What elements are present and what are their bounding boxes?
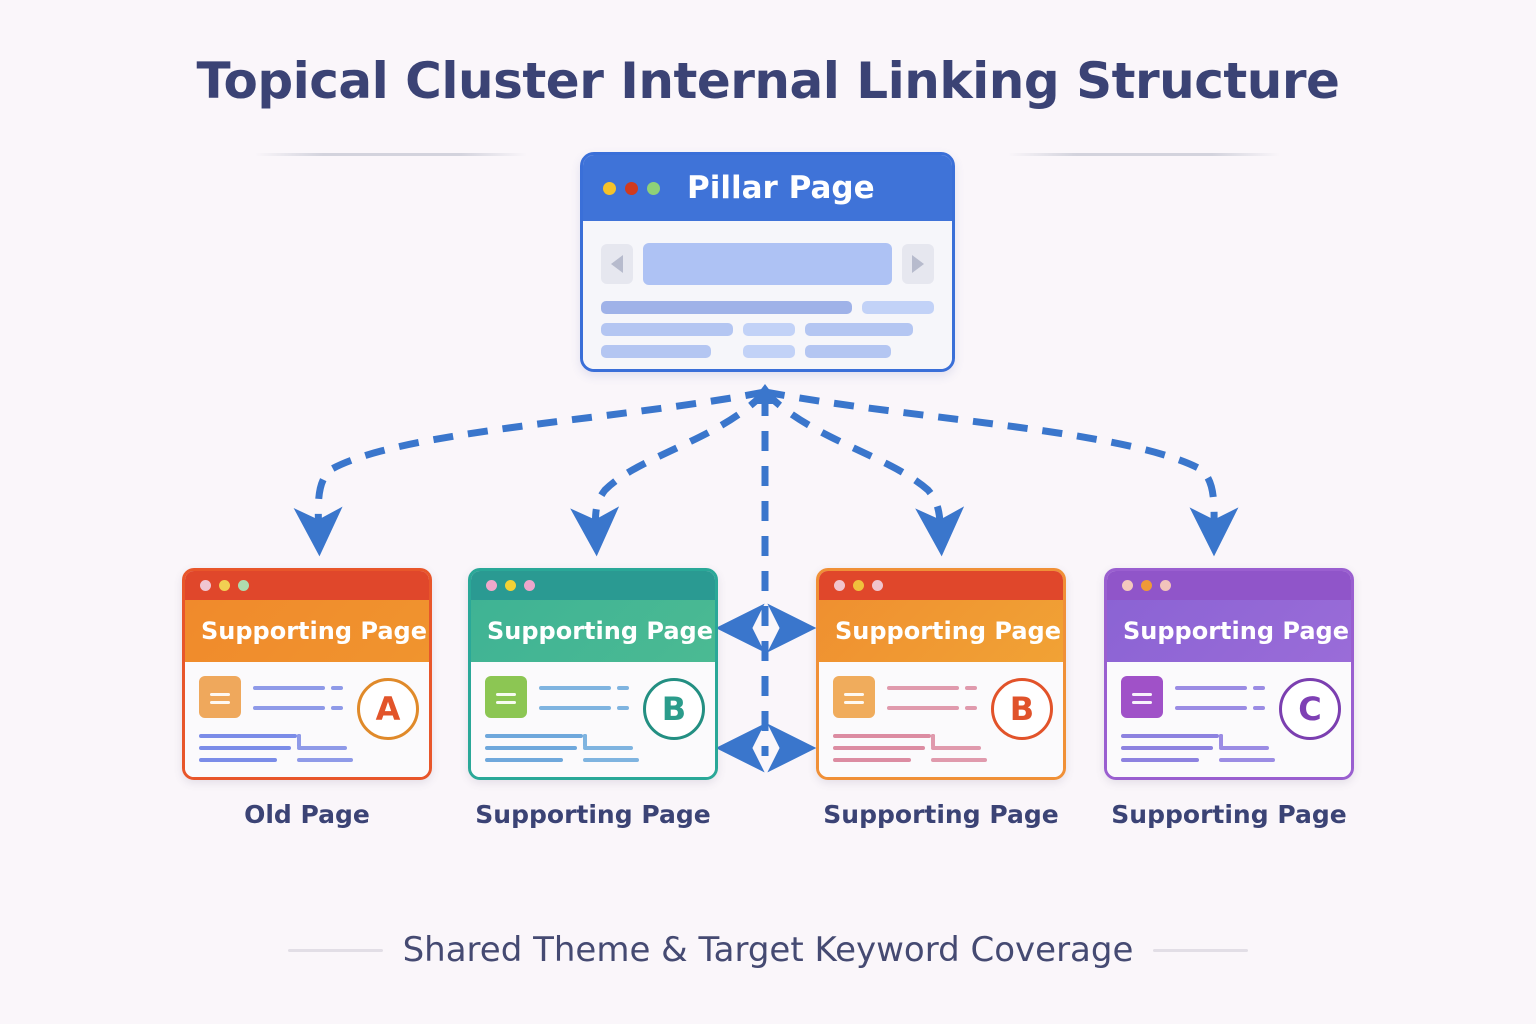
card-badge-c: C — [1279, 678, 1341, 740]
elbow-connector-icon — [931, 734, 935, 748]
text-line-placeholder — [539, 706, 611, 710]
supporting-page-card-2[interactable]: Supporting PageB — [468, 568, 718, 780]
window-dot-orange — [1141, 580, 1152, 591]
elbow-connector-icon — [1219, 734, 1223, 748]
text-line-placeholder — [1175, 686, 1247, 690]
elbow-connector-icon — [297, 734, 301, 748]
card-caption-3: Supporting Page — [816, 800, 1066, 829]
text-line-placeholder — [485, 758, 563, 762]
card-header: Supporting Page — [185, 600, 429, 662]
card-body: C — [1107, 662, 1351, 780]
text-line-placeholder — [1175, 706, 1247, 710]
text-line-placeholder — [887, 706, 959, 710]
text-line-placeholder — [833, 734, 931, 738]
text-line-placeholder — [199, 746, 291, 750]
card-caption-1: Old Page — [182, 800, 432, 829]
card-body: A — [185, 662, 429, 780]
text-line-placeholder — [1253, 686, 1265, 690]
text-line-placeholder — [199, 758, 277, 762]
card-body: B — [471, 662, 715, 780]
window-dot-pink — [834, 580, 845, 591]
window-dot-pink — [200, 580, 211, 591]
footer-rule-right — [1153, 949, 1248, 952]
text-line-placeholder — [833, 758, 911, 762]
window-dot-pink — [486, 580, 497, 591]
text-line-placeholder — [887, 686, 959, 690]
text-line-placeholder — [1121, 758, 1199, 762]
text-line-placeholder — [1219, 746, 1269, 750]
card-header: Supporting Page — [819, 600, 1063, 662]
text-line-placeholder — [965, 706, 977, 710]
arrow-to-card-4 — [765, 392, 1214, 540]
card-header: Supporting Page — [1107, 600, 1351, 662]
text-line-placeholder — [1121, 734, 1219, 738]
card-title: Supporting Page — [1123, 617, 1349, 645]
supporting-page-card-4[interactable]: Supporting PageC — [1104, 568, 1354, 780]
window-dot-pink — [524, 580, 535, 591]
text-line-placeholder — [485, 746, 577, 750]
footer: Shared Theme & Target Keyword Coverage — [0, 930, 1536, 970]
card-badge-b: B — [643, 678, 705, 740]
text-line-placeholder — [617, 686, 629, 690]
card-title: Supporting Page — [835, 617, 1061, 645]
card-badge-b: B — [991, 678, 1053, 740]
text-line-placeholder — [485, 734, 583, 738]
document-thumbnail-icon — [833, 676, 875, 718]
text-line-placeholder — [833, 746, 925, 750]
text-line-placeholder — [583, 758, 639, 762]
window-dot-pink — [1122, 580, 1133, 591]
document-thumbnail-icon — [485, 676, 527, 718]
text-line-placeholder — [965, 686, 977, 690]
text-line-placeholder — [931, 746, 981, 750]
arrow-to-card-1 — [318, 392, 765, 540]
text-line-placeholder — [297, 758, 353, 762]
text-line-placeholder — [297, 746, 347, 750]
connector-arrows — [0, 0, 1536, 1024]
window-dot-pink — [872, 580, 883, 591]
text-line-placeholder — [617, 706, 629, 710]
card-title: Supporting Page — [201, 617, 427, 645]
text-line-placeholder — [583, 746, 633, 750]
card-badge-a: A — [357, 678, 419, 740]
text-line-placeholder — [253, 706, 325, 710]
text-line-placeholder — [539, 686, 611, 690]
card-titlebar — [185, 571, 429, 600]
text-line-placeholder — [331, 706, 343, 710]
supporting-page-card-3[interactable]: Supporting PageB — [816, 568, 1066, 780]
footer-rule-left — [288, 949, 383, 952]
elbow-connector-icon — [583, 734, 587, 748]
card-body: B — [819, 662, 1063, 780]
window-dot-yellow — [219, 580, 230, 591]
diagram-canvas: Topical Cluster Internal Linking Structu… — [0, 0, 1536, 1024]
text-line-placeholder — [1121, 746, 1213, 750]
text-line-placeholder — [199, 734, 297, 738]
card-title: Supporting Page — [487, 617, 713, 645]
supporting-page-card-1[interactable]: Supporting PageA — [182, 568, 432, 780]
footer-text: Shared Theme & Target Keyword Coverage — [403, 930, 1134, 970]
card-titlebar — [1107, 571, 1351, 600]
card-caption-4: Supporting Page — [1104, 800, 1354, 829]
window-dot-yellow — [505, 580, 516, 591]
card-titlebar — [471, 571, 715, 600]
window-dot-pink — [1160, 580, 1171, 591]
text-line-placeholder — [253, 686, 325, 690]
text-line-placeholder — [931, 758, 987, 762]
card-caption-2: Supporting Page — [468, 800, 718, 829]
card-titlebar — [819, 571, 1063, 600]
text-line-placeholder — [1253, 706, 1265, 710]
document-thumbnail-icon — [199, 676, 241, 718]
window-dot-yellow — [853, 580, 864, 591]
card-header: Supporting Page — [471, 600, 715, 662]
document-thumbnail-icon — [1121, 676, 1163, 718]
text-line-placeholder — [1219, 758, 1275, 762]
text-line-placeholder — [331, 686, 343, 690]
window-dot-green — [238, 580, 249, 591]
